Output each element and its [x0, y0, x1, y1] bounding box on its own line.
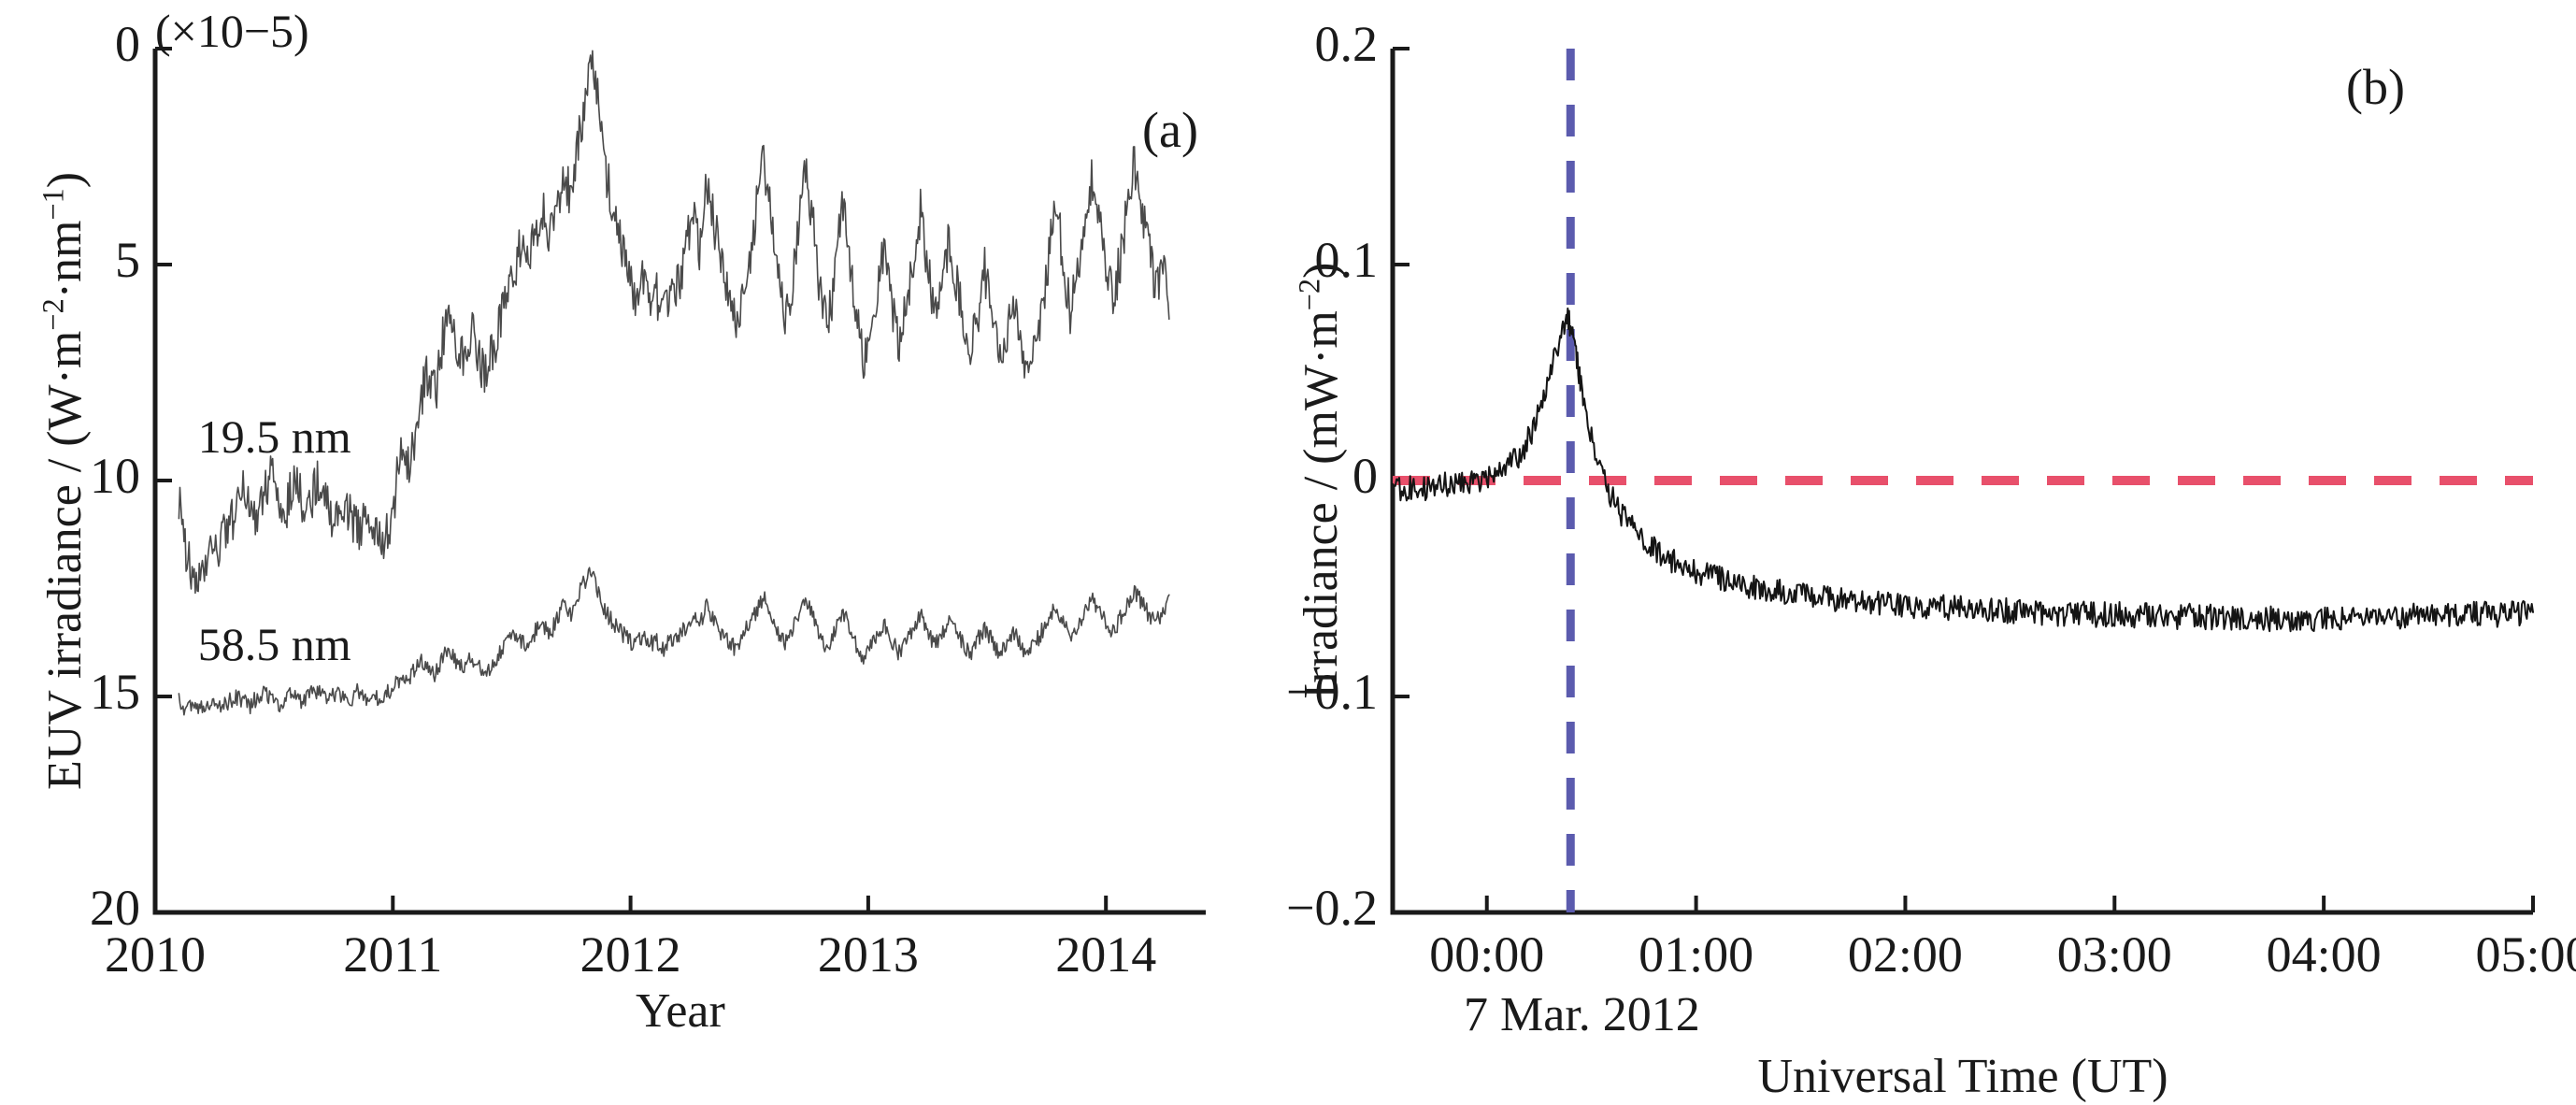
- date-label-b: 7 Mar. 2012: [1464, 987, 1700, 1042]
- series-label-19nm: 19.5 nm: [198, 409, 351, 464]
- panel-tag-a: (a): [1142, 101, 1198, 159]
- y-axis-title-a-close: ): [38, 171, 92, 187]
- y-axis-title-a-exp1: −2: [36, 298, 70, 330]
- y-tick-label-a: 0: [28, 15, 140, 73]
- panel-b: (b) 7 Mar. 2012 Universal Time (UT) Irra…: [1281, 0, 2576, 1105]
- y-tick-label-a: 15: [28, 663, 140, 721]
- y-axis-title-a-exp2: −1: [36, 188, 70, 220]
- x-tick-label-b: 01:00: [1594, 926, 1799, 983]
- x-tick-label-a: 2010: [52, 926, 258, 983]
- y-tick-label-b: 0: [1209, 447, 1378, 505]
- panel-a: (×10−5) (a) 19.5 nm 58.5 nm Year EUV irr…: [0, 0, 1281, 1105]
- y-tick-label-a: 5: [28, 231, 140, 289]
- x-tick-label-a: 2011: [290, 926, 495, 983]
- x-tick-label-a: 2012: [528, 926, 734, 983]
- exponent-label-a: (×10−5): [155, 4, 309, 58]
- y-tick-label-b: −0.1: [1209, 663, 1378, 721]
- y-tick-label-b: 0.1: [1209, 231, 1378, 289]
- y-tick-label-b: 0.2: [1209, 15, 1378, 73]
- x-tick-label-b: 05:00: [2430, 926, 2576, 983]
- x-tick-label-b: 03:00: [2011, 926, 2217, 983]
- x-axis-title-a: Year: [636, 983, 725, 1039]
- y-tick-label-b: −0.2: [1209, 879, 1378, 937]
- x-tick-label-b: 02:00: [1802, 926, 2008, 983]
- panel-tag-b: (b): [2346, 58, 2405, 116]
- figure-root: (×10−5) (a) 19.5 nm 58.5 nm Year EUV irr…: [0, 0, 2576, 1105]
- x-tick-label-b: 04:00: [2221, 926, 2426, 983]
- x-tick-label-a: 2014: [1003, 926, 1209, 983]
- x-tick-label-a: 2013: [766, 926, 971, 983]
- series-label-58nm: 58.5 nm: [198, 617, 351, 671]
- x-axis-title-b: Universal Time (UT): [1758, 1049, 2168, 1104]
- x-tick-label-b: 00:00: [1384, 926, 1590, 983]
- y-tick-label-a: 10: [28, 447, 140, 505]
